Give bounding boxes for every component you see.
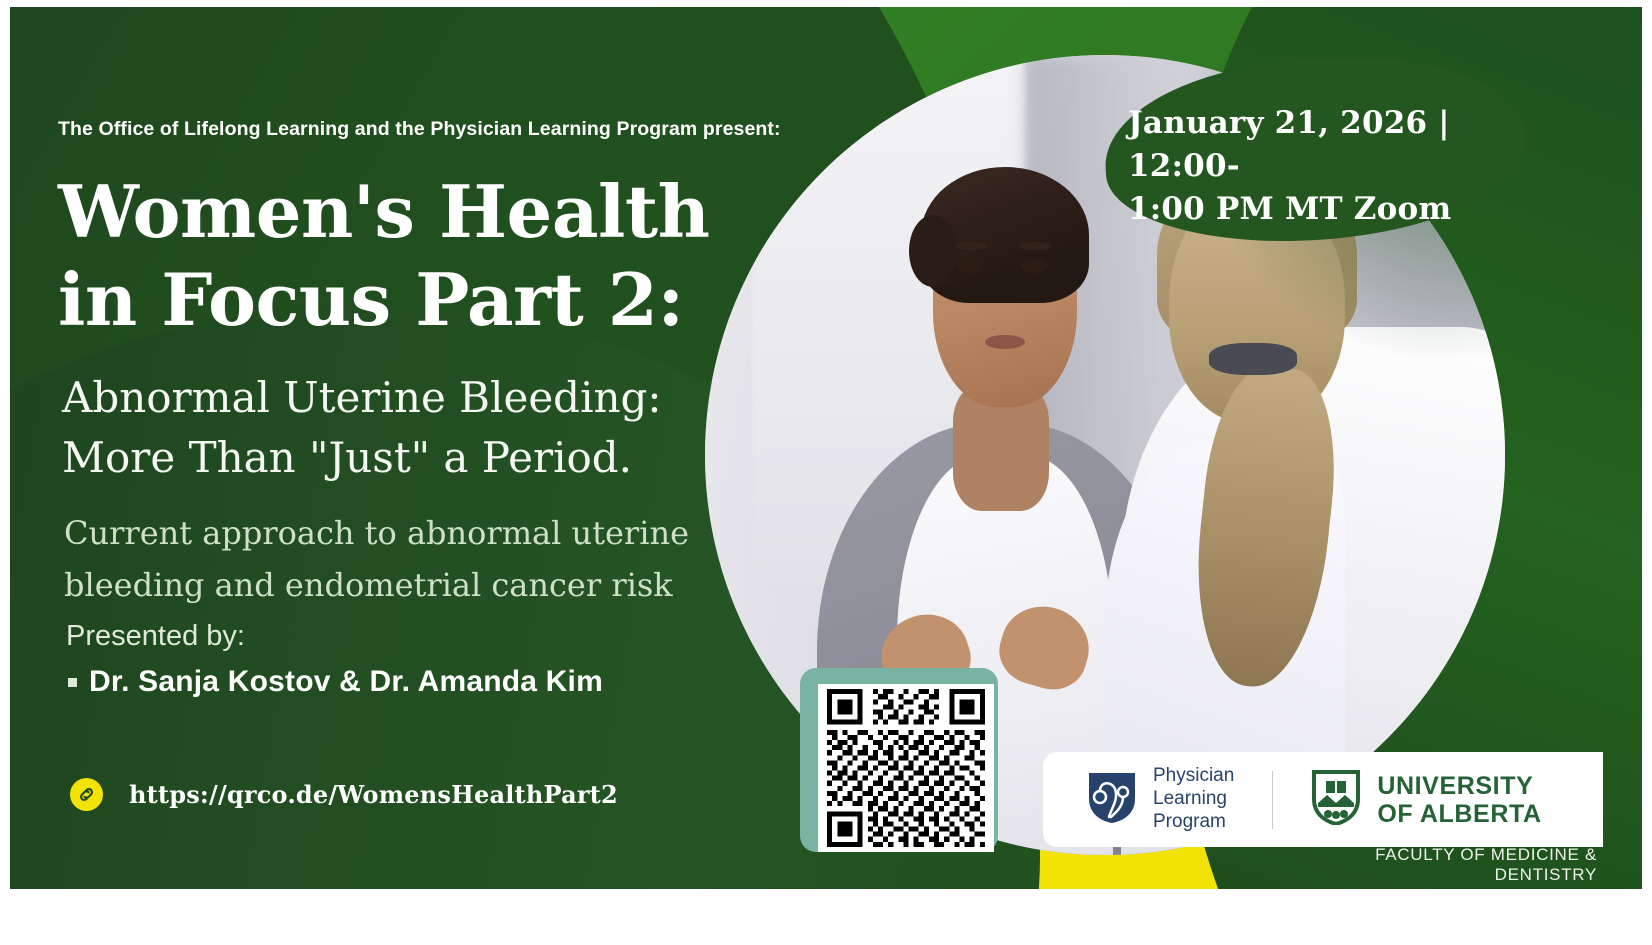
- page-subtitle-line2: More Than "Just" a Period.: [62, 428, 762, 488]
- presenter-list-item: Dr. Sanja Kostov & Dr. Amanda Kim: [68, 665, 603, 699]
- event-description-line1: Current approach to abnormal uterine: [64, 508, 704, 560]
- bullet-square-icon: [68, 678, 77, 687]
- presenter-organizations: The Office of Lifelong Learning and the …: [58, 118, 818, 141]
- shield-book-mountain-icon: [1311, 769, 1361, 830]
- ualberta-line2: OF ALBERTA: [1377, 800, 1541, 828]
- chain-link-icon: [70, 778, 103, 811]
- event-poster: January 21, 2026 | 12:00- 1:00 PM MT Zoo…: [0, 0, 1652, 945]
- partner-logo-band: Physician Learning Program UNIVERSIT: [1043, 752, 1603, 847]
- shield-stethoscope-icon: [1085, 769, 1139, 830]
- page-title: Women's Health in Focus Part 2:: [58, 168, 758, 344]
- photo-person-left-brow: [1019, 242, 1051, 250]
- page-margin-bottom: [0, 889, 1652, 945]
- page-margin-right: [1642, 0, 1652, 945]
- page-margin-left: [0, 0, 10, 945]
- event-datetime: January 21, 2026 | 12:00- 1:00 PM MT Zoo…: [1128, 102, 1498, 230]
- page-title-line2: in Focus Part 2:: [58, 256, 758, 344]
- plp-line1: Physician: [1153, 765, 1234, 788]
- photo-person-left-brow: [955, 242, 987, 250]
- photo-person-left-hair-bun: [909, 215, 957, 287]
- plp-line3: Program: [1153, 811, 1234, 834]
- ualberta-line1: UNIVERSITY: [1377, 772, 1541, 800]
- event-date-line2: 1:00 PM MT Zoom: [1128, 188, 1498, 231]
- page-margin-top: [0, 0, 1652, 7]
- presenter-names: Dr. Sanja Kostov & Dr. Amanda Kim: [89, 665, 603, 699]
- presented-by-label: Presented by:: [66, 620, 245, 653]
- page-title-line1: Women's Health: [58, 168, 758, 256]
- photo-person-left-eye: [1021, 259, 1048, 273]
- plp-line2: Learning: [1153, 788, 1234, 811]
- university-of-alberta-logo: UNIVERSITY OF ALBERTA: [1311, 769, 1541, 830]
- registration-link[interactable]: https://qrco.de/WomensHealthPart2: [70, 778, 618, 811]
- photo-person-left-eye: [957, 259, 984, 273]
- physician-learning-program-logo: Physician Learning Program: [1085, 765, 1234, 833]
- page-subtitle: Abnormal Uterine Bleeding: More Than "Ju…: [62, 368, 762, 488]
- logo-divider: [1272, 771, 1273, 829]
- page-subtitle-line1: Abnormal Uterine Bleeding:: [62, 368, 762, 428]
- registration-url[interactable]: https://qrco.de/WomensHealthPart2: [129, 780, 618, 809]
- event-date-line1: January 21, 2026 | 12:00-: [1128, 102, 1498, 188]
- plp-wordmark: Physician Learning Program: [1153, 765, 1234, 833]
- faculty-tagline-line1: FACULTY OF MEDICINE & DENTISTRY: [1297, 845, 1597, 885]
- event-description: Current approach to abnormal uterine ble…: [64, 508, 704, 612]
- qr-code-frame[interactable]: [800, 668, 998, 852]
- qr-code[interactable]: [818, 684, 994, 852]
- ualberta-wordmark: UNIVERSITY OF ALBERTA: [1377, 772, 1541, 828]
- event-description-line2: bleeding and endometrial cancer risk: [64, 560, 704, 612]
